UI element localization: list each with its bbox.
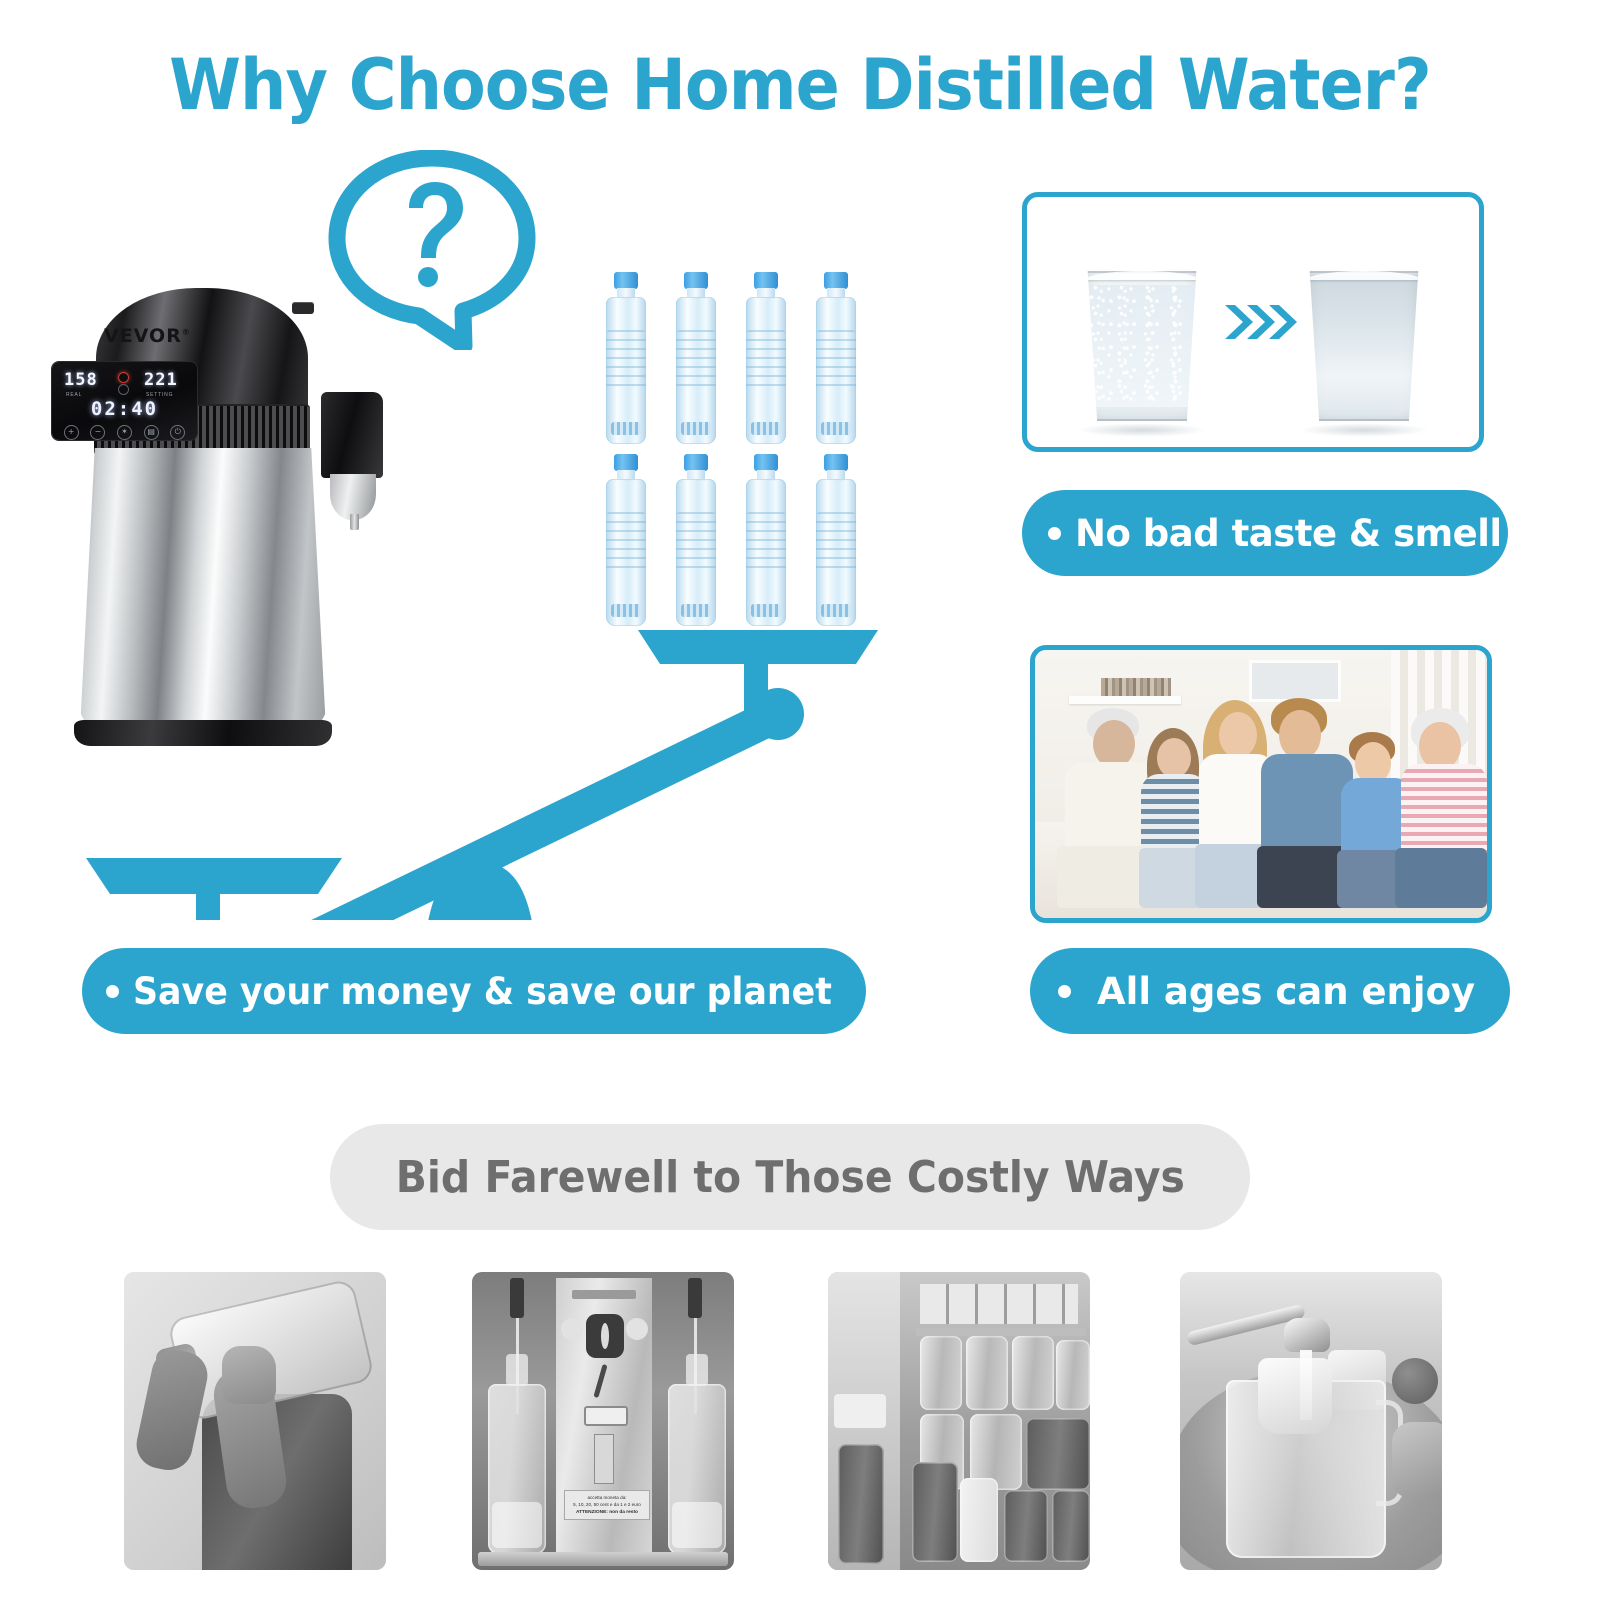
display-readout-row: 158 REAL 221 SETTING <box>52 370 197 396</box>
fahrenheit-led-indicator <box>118 372 129 383</box>
plastic-water-bottles-group <box>600 272 862 632</box>
clear-water-glass <box>1305 271 1423 421</box>
water-bottle <box>810 454 862 626</box>
benefit-label: All ages can enjoy <box>1097 970 1475 1013</box>
water-vending-machine-photo: accetta moneta da: 5, 10, 20, 50 cent e … <box>472 1272 734 1570</box>
costly-ways-banner: Bid Farewell to Those Costly Ways <box>330 1124 1250 1230</box>
glass-scene <box>1027 197 1479 447</box>
water-bottle <box>600 454 652 626</box>
brand-name: VEVOR <box>104 325 182 347</box>
distiller-spout-housing <box>321 392 383 478</box>
brand-logo: VEVOR® <box>104 325 191 347</box>
timer-value: 02:40 <box>52 398 197 420</box>
benefit-label: Save your money & save our planet <box>133 970 832 1013</box>
control-button-row: + − ✶ ▤ ⏻ <box>52 424 197 440</box>
water-bottle <box>600 272 652 444</box>
water-bottle <box>740 454 792 626</box>
minus-button[interactable]: − <box>90 425 105 440</box>
temperature-unit-button[interactable]: ✶ <box>117 425 132 440</box>
vending-machine-notice: accetta moneta da: 5, 10, 20, 50 cent e … <box>564 1490 650 1520</box>
water-bottle <box>670 272 722 444</box>
page-title: Why Choose Home Distilled Water? <box>56 44 1544 126</box>
bottle-row <box>600 454 862 626</box>
setting-temperature-value: 221 <box>144 370 178 390</box>
stacked-water-bottles-storage-photo <box>828 1272 1090 1570</box>
plus-button[interactable]: + <box>64 425 79 440</box>
bullet-dot <box>1048 527 1061 540</box>
man-lifting-water-jug-photo <box>124 1272 386 1570</box>
water-comparison-panel <box>1022 192 1484 452</box>
benefit-label: No bad taste & smell <box>1075 512 1502 555</box>
water-bottle <box>740 272 792 444</box>
lid-knob <box>292 302 314 314</box>
distiller-control-panel[interactable]: 158 REAL 221 SETTING 02:40 + − ✶ ▤ ⏻ <box>52 362 197 440</box>
bullet-dot <box>106 985 119 998</box>
celsius-led-indicator <box>118 384 129 395</box>
water-bottle <box>810 272 862 444</box>
faucet-filling-filter-pitcher-photo <box>1180 1272 1442 1570</box>
setting-button[interactable]: ▤ <box>144 425 159 440</box>
triple-chevron-right-icon <box>1223 301 1297 343</box>
notice-line-1: accetta moneta da: <box>567 1494 647 1501</box>
distiller-nozzle <box>350 514 359 530</box>
bottle-row <box>600 272 862 444</box>
bullet-dot <box>1058 985 1071 998</box>
power-button[interactable]: ⏻ <box>170 425 185 440</box>
family-photo <box>1035 650 1487 918</box>
benefit-pill-all-ages: All ages can enjoy <box>1030 948 1510 1034</box>
bottom-photo-strip: accetta moneta da: 5, 10, 20, 50 cent e … <box>0 1272 1600 1572</box>
balance-scale-icon <box>80 620 880 920</box>
real-temperature-value: 158 <box>64 370 98 390</box>
infographic-root: Why Choose Home Distilled Water? VEVOR® … <box>0 0 1600 1600</box>
water-bottle <box>670 454 722 626</box>
banner-text: Bid Farewell to Those Costly Ways <box>395 1152 1184 1203</box>
benefit-pill-no-bad-taste: No bad taste & smell <box>1022 490 1508 576</box>
family-photo-panel <box>1030 645 1492 923</box>
benefit-pill-save-money: Save your money & save our planet <box>82 948 866 1034</box>
notice-line-2: 5, 10, 20, 50 cent e da 1 e 2 euro <box>567 1501 647 1508</box>
notice-line-3: ATTENZIONE: non da resto <box>576 1510 638 1515</box>
brand-trademark: ® <box>182 328 191 337</box>
cloudy-water-glass <box>1083 271 1201 421</box>
